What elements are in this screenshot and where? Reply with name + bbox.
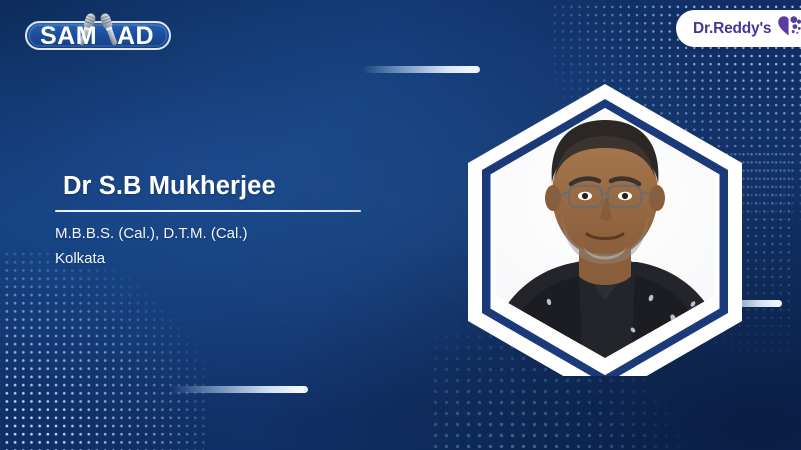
name-divider	[55, 210, 361, 212]
svg-text:SAM: SAM	[40, 22, 97, 50]
speaker-info-block: Dr S.B Mukherjee M.B.B.S. (Cal.), D.T.M.…	[55, 172, 375, 267]
dr-reddys-logo[interactable]: Dr.Reddy's	[676, 10, 801, 47]
speaker-city: Kolkata	[55, 250, 375, 267]
svg-text:AD: AD	[117, 22, 154, 50]
speaker-title-card: SAM AD Dr.Reddy's Dr S.B Mukherjee M.B.B…	[0, 0, 801, 450]
dr-reddys-wordmark: Dr.Reddy's	[693, 20, 771, 38]
speaker-portrait-hexagon	[437, 74, 773, 376]
heart-dots-icon	[776, 15, 801, 42]
speaker-name: Dr S.B Mukherjee	[63, 172, 375, 201]
samvad-logo[interactable]: SAM AD	[22, 11, 174, 51]
speaker-qualifications: M.B.B.S. (Cal.), D.T.M. (Cal.)	[55, 225, 375, 242]
portrait-frame	[437, 74, 773, 376]
